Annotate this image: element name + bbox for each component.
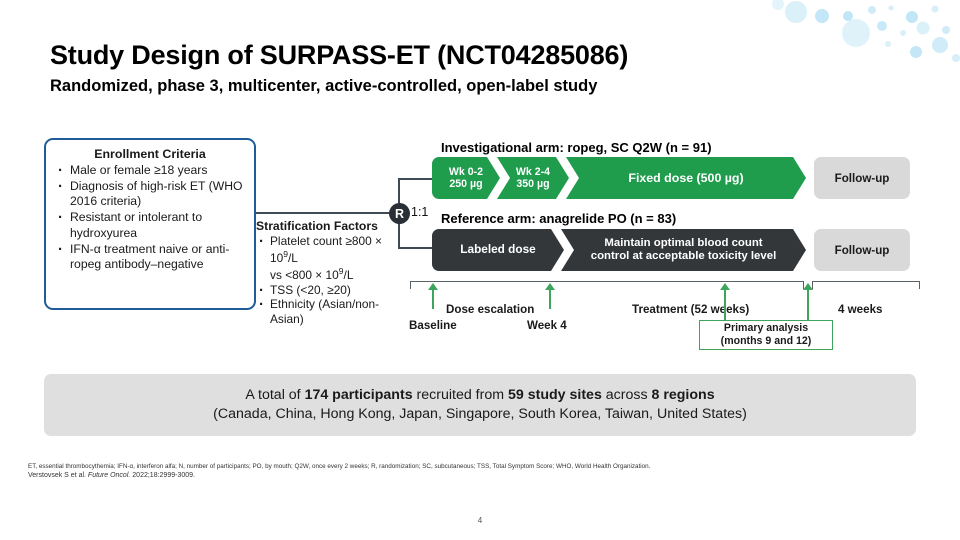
summary-banner: A total of 174 participants recruited fr…	[44, 374, 916, 436]
timeline-phase-treatment: Treatment (52 weeks)	[632, 303, 749, 316]
primary-analysis-box: Primary analysis (months 9 and 12)	[699, 320, 833, 350]
inv-segment-wk2-4: Wk 2-4 350 µg	[497, 157, 569, 199]
randomization-letter: R	[395, 207, 404, 221]
title-block: Study Design of SURPASS-ET (NCT04285086)…	[50, 40, 628, 96]
citation-authors: Verstovsek S et al.	[28, 472, 88, 479]
platelet-unit: /L	[288, 251, 298, 265]
stratification-factors-box: Stratification Factors Platelet count ≥8…	[256, 219, 388, 327]
summary-regions: 8 regions	[652, 387, 715, 403]
timeline-bracket-followup	[812, 281, 920, 289]
list-item: TSS (<20, ≥20)	[256, 283, 388, 298]
investigational-arm-label: Investigational arm: ropeg, SC Q2W (n = …	[441, 140, 712, 155]
reference-arm-label: Reference arm: anagrelide PO (n = 83)	[441, 211, 676, 226]
timeline-phase-dose-escalation: Dose escalation	[446, 303, 534, 316]
summary-line-2: (Canada, China, Hong Kong, Japan, Singap…	[213, 405, 747, 424]
enrollment-criteria-list: Male or female ≥18 years Diagnosis of hi…	[54, 163, 246, 273]
footnote-citation: Verstovsek S et al. Future Oncol. 2022;1…	[28, 471, 928, 482]
timeline-arrow-pa-month9-head	[720, 283, 730, 290]
connector-enrollment-to-r	[256, 212, 392, 214]
summary-pre: A total of	[245, 387, 304, 403]
citation-journal: Future Oncol.	[88, 472, 130, 479]
ref-segment-labeled-dose: Labeled dose	[432, 229, 564, 271]
investigational-followup-label: Follow-up	[835, 172, 890, 185]
page-subtitle: Randomized, phase 3, multicenter, active…	[50, 77, 628, 96]
inv-seg3-line1: Fixed dose (500 µg)	[628, 171, 743, 186]
citation-details: 2022;18:2999-3009.	[130, 472, 195, 479]
connector-to-reference	[398, 247, 432, 249]
stratification-factors-title: Stratification Factors	[256, 219, 388, 233]
timeline-label-baseline: Baseline	[409, 319, 457, 332]
timeline-arrow-pa-month9-stem	[724, 289, 726, 321]
reference-followup-label: Follow-up	[835, 244, 890, 257]
ref-segment-maintain: Maintain optimal blood count control at …	[561, 229, 806, 271]
timeline-bracket-treatment	[410, 281, 804, 289]
summary-sites: 59 study sites	[508, 387, 602, 403]
randomization-marker: R	[389, 203, 410, 224]
inv-segment-fixed-dose: Fixed dose (500 µg)	[566, 157, 806, 199]
platelet-vs-text: vs <800 × 10	[270, 268, 339, 282]
platelet-vs-unit: /L	[344, 268, 354, 282]
timeline-arrow-pa-month12-head	[803, 283, 813, 290]
footnotes: ET, essential thrombocythemia; IFN-α, in…	[28, 462, 928, 482]
summary-mid-1: recruited from	[413, 387, 508, 403]
timeline-arrow-pa-month12-stem	[807, 289, 809, 321]
footnote-abbreviations: ET, essential thrombocythemia; IFN-α, in…	[28, 462, 928, 471]
page-number: 4	[0, 516, 960, 525]
inv-seg1-line2: 250 µg	[449, 178, 482, 191]
inv-seg2-line2: 350 µg	[516, 178, 549, 191]
ref-seg2-line1: Maintain optimal blood count	[604, 237, 762, 250]
enrollment-criteria-title: Enrollment Criteria	[54, 147, 246, 161]
timeline-phase-4weeks: 4 weeks	[838, 303, 882, 316]
timeline-arrow-week4-head	[545, 283, 555, 290]
ref-seg2-line2: control at acceptable toxicity level	[591, 250, 776, 263]
stratification-factors-list: Platelet count ≥800 × 109/Lvs <800 × 109…	[256, 234, 388, 327]
timeline-arrow-baseline-head	[428, 283, 438, 290]
timeline-arrow-baseline-stem	[432, 289, 434, 309]
timeline-label-week4: Week 4	[527, 319, 567, 332]
primary-analysis-line2: (months 9 and 12)	[721, 335, 812, 348]
enrollment-criteria-box: Enrollment Criteria Male or female ≥18 y…	[44, 138, 256, 310]
inv-seg2-line1: Wk 2-4	[516, 166, 550, 179]
decorative-bubbles	[760, 0, 960, 80]
inv-segment-wk0-2: Wk 0-2 250 µg	[432, 157, 500, 199]
list-item: IFN-α treatment naive or anti-ropeg anti…	[54, 242, 246, 273]
list-item: Male or female ≥18 years	[54, 163, 246, 179]
randomization-ratio: 1:1	[411, 205, 428, 219]
summary-participants: 174 participants	[305, 387, 413, 403]
page-title: Study Design of SURPASS-ET (NCT04285086)	[50, 40, 628, 71]
list-item: Resistant or intolerant to hydroxyurea	[54, 210, 246, 241]
list-item: Diagnosis of high-risk ET (WHO 2016 crit…	[54, 179, 246, 210]
primary-analysis-line1: Primary analysis	[724, 322, 808, 335]
list-item: Ethnicity (Asian/non-Asian)	[256, 297, 388, 327]
list-item: Platelet count ≥800 × 109/Lvs <800 × 109…	[256, 234, 388, 283]
inv-seg1-line1: Wk 0-2	[449, 166, 483, 179]
investigational-followup-box: Follow-up	[814, 157, 910, 199]
summary-mid-2: across	[602, 387, 652, 403]
reference-followup-box: Follow-up	[814, 229, 910, 271]
summary-line-1: A total of 174 participants recruited fr…	[245, 386, 714, 405]
ref-seg1-line1: Labeled dose	[460, 243, 535, 257]
connector-to-investigational	[398, 178, 432, 180]
timeline-arrow-week4-stem	[549, 289, 551, 309]
